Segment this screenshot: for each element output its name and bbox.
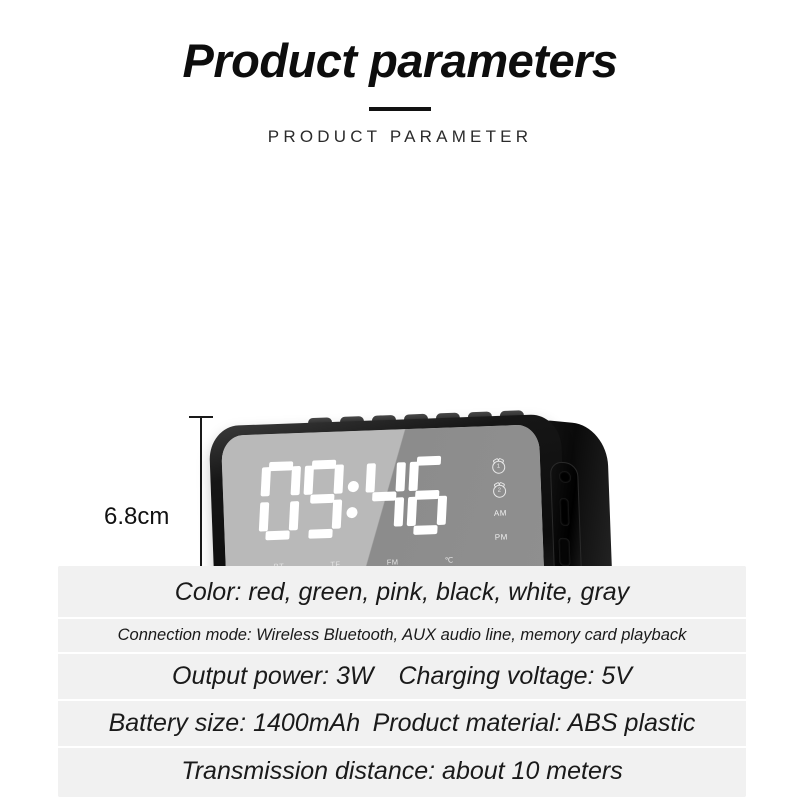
alarm-clock-icon: 2 <box>493 484 506 497</box>
clock-digit-4 <box>362 457 406 537</box>
alarm-1-indicator: 1 <box>492 453 523 478</box>
display-status-indicators: 1 2 AM PM <box>492 453 525 550</box>
specifications-table: Color: red, green, pink, black, white, g… <box>58 566 746 797</box>
page-subtitle: PRODUCT PARAMETER <box>0 127 800 147</box>
clock-digit-6 <box>405 456 449 536</box>
pm-indicator: PM <box>494 525 525 550</box>
page-header: Product parameters PRODUCT PARAMETER <box>0 0 800 147</box>
tf-card-slot-icon <box>559 498 569 527</box>
clock-digits <box>258 456 449 541</box>
usb-port-icon <box>558 537 570 566</box>
clock-colon <box>343 459 363 538</box>
clock-digit-0 <box>257 461 301 541</box>
page-title: Product parameters <box>0 0 800 85</box>
spec-row-color: Color: red, green, pink, black, white, g… <box>58 566 746 619</box>
am-indicator: AM <box>493 501 524 526</box>
product-figure: 6.8cm 13.9cm 4.5cm <box>0 190 800 520</box>
spec-row-output-power-charging-voltage: Output power: 3W Charging voltage: 5V <box>58 654 746 701</box>
spec-row-battery-material: Battery size: 1400mAh Product material: … <box>58 701 746 748</box>
clock-digit-9 <box>300 459 344 539</box>
title-divider <box>369 107 431 111</box>
alarm-2-indicator: 2 <box>493 477 524 502</box>
spec-row-transmission-distance: Transmission distance: about 10 meters <box>58 748 746 797</box>
alarm-clock-icon: 1 <box>492 460 505 473</box>
spec-row-connection-mode: Connection mode: Wireless Bluetooth, AUX… <box>58 619 746 654</box>
celsius-indicator: ℃ <box>445 555 454 564</box>
